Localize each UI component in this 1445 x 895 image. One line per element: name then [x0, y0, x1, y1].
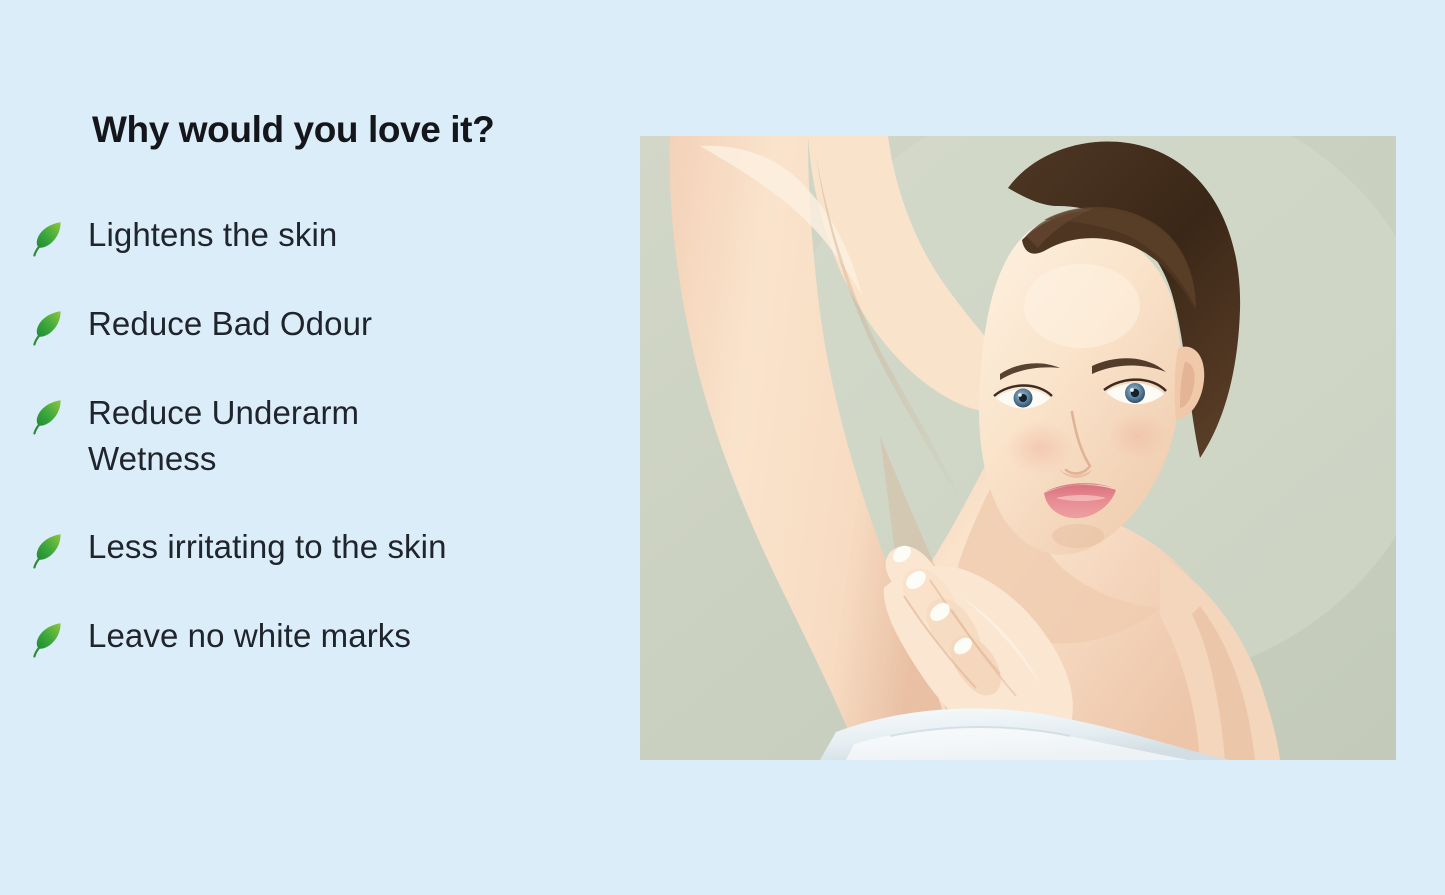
benefits-infographic: Why would you love it? [0, 0, 1445, 895]
list-item: Reduce Underarm Wetness [30, 390, 610, 482]
list-item-label: Leave no white marks [88, 613, 411, 659]
list-item-label: Reduce Underarm Wetness [88, 390, 433, 482]
leaf-icon [30, 620, 64, 660]
leaf-icon [30, 308, 64, 348]
list-item-label: Lightens the skin [88, 212, 337, 258]
list-item: Leave no white marks [30, 613, 610, 660]
list-item: Lightens the skin [30, 212, 610, 259]
model-photo [640, 136, 1396, 760]
model-photo-illustration [640, 136, 1396, 760]
leaf-icon [30, 397, 64, 437]
benefits-panel: Why would you love it? [0, 0, 620, 895]
leaf-icon [30, 531, 64, 571]
benefits-list: Lightens the skin [30, 212, 610, 660]
list-item: Reduce Bad Odour [30, 301, 610, 348]
leaf-icon [30, 219, 64, 259]
page-title: Why would you love it? [92, 109, 494, 151]
list-item-label: Less irritating to the skin [88, 524, 447, 570]
list-item: Less irritating to the skin [30, 524, 610, 571]
list-item-label: Reduce Bad Odour [88, 301, 372, 347]
